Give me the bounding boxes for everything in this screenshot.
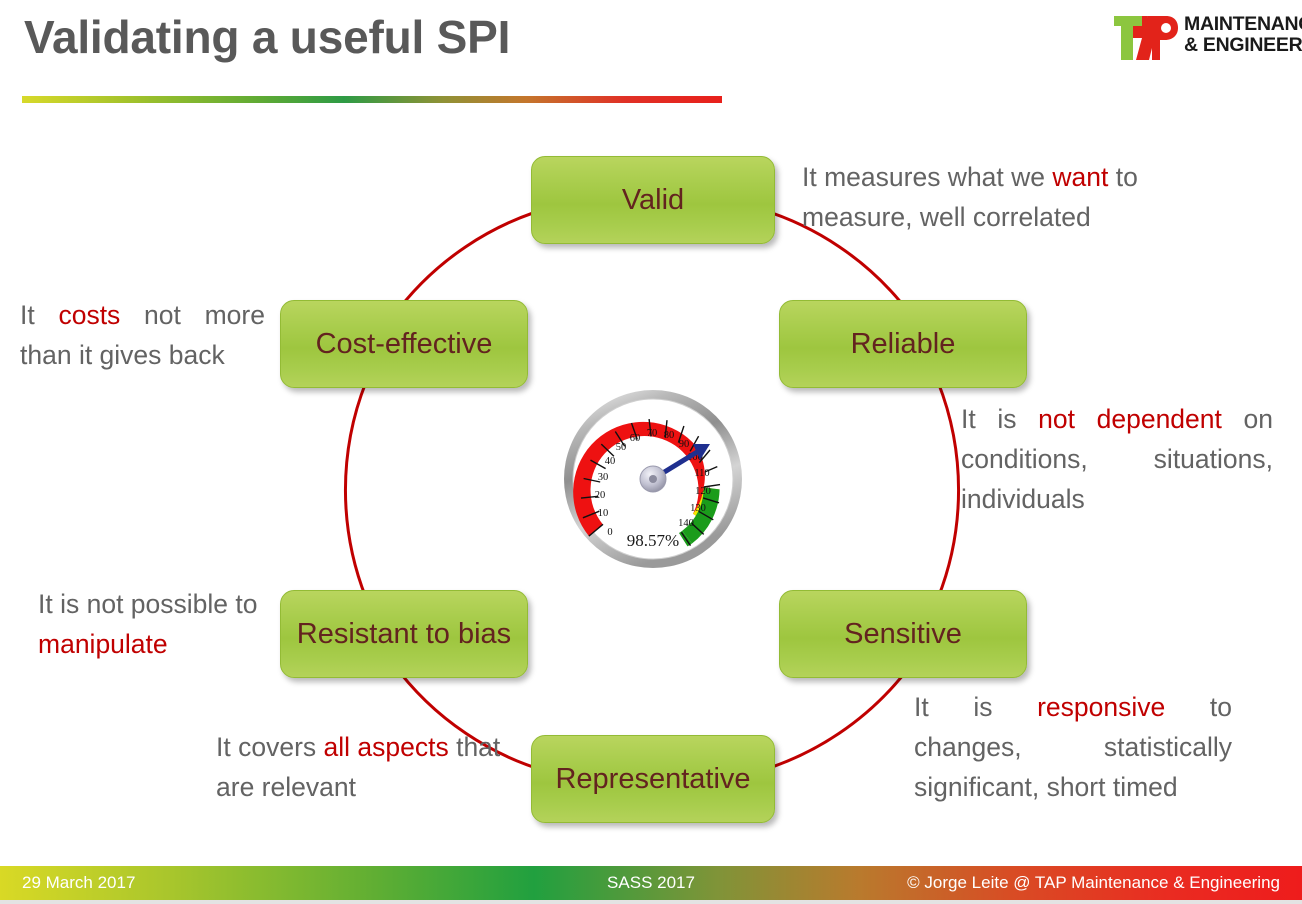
svg-text:40: 40 (605, 456, 616, 467)
spi-gauge: 0 10 20 30 40 50 60 70 80 90 100 110 120… (562, 388, 744, 570)
svg-text:80: 80 (664, 430, 675, 441)
svg-text:70: 70 (647, 428, 658, 439)
note-representative: It covers all aspects that are relevant (216, 728, 506, 808)
note-resistant-to-bias: It is not possible to manipulate (38, 585, 272, 665)
note-valid-highlight: want (1052, 162, 1108, 192)
tap-logo-text: MAINTENANCE & ENGINEERING (1184, 14, 1302, 56)
note-cost-effective: It costs not more than it gives back (20, 296, 265, 376)
note-sensitive: It is responsive to changes, statistical… (914, 688, 1232, 807)
node-resistant-to-bias-label: Resistant to bias (297, 618, 511, 650)
title-underline-gradient (22, 96, 722, 103)
note-reliable: It is not dependent on conditions, situa… (961, 400, 1273, 519)
note-sensitive-pre: It is (914, 692, 1037, 722)
note-reliable-pre: It is (961, 404, 1038, 434)
note-cost-highlight: costs (58, 300, 120, 330)
slide: Validating a useful SPI MAINTENANCE & EN… (0, 0, 1302, 904)
tap-logo: MAINTENANCE & ENGINEERING (1112, 10, 1290, 68)
node-resistant-to-bias[interactable]: Resistant to bias (280, 590, 528, 678)
footer-shadow (0, 900, 1302, 904)
svg-text:20: 20 (595, 490, 606, 501)
note-representative-pre: It covers (216, 732, 324, 762)
node-sensitive-label: Sensitive (844, 618, 962, 650)
logo-line-2: & ENGINEERING (1184, 35, 1302, 56)
node-valid[interactable]: Valid (531, 156, 775, 244)
note-cost-pre: It (20, 300, 58, 330)
note-resistant-pre: It is not possible to (38, 589, 257, 619)
svg-text:90: 90 (679, 439, 690, 450)
node-representative-label: Representative (555, 763, 750, 795)
node-reliable-label: Reliable (851, 328, 956, 360)
svg-text:120: 120 (695, 486, 711, 497)
note-valid-pre: It measures what we (802, 162, 1052, 192)
note-representative-highlight: all aspects (324, 732, 449, 762)
note-reliable-highlight: not dependent (1038, 404, 1222, 434)
tap-logo-mark-icon (1112, 12, 1178, 64)
svg-text:60: 60 (630, 433, 641, 444)
footer-copyright: © Jorge Leite @ TAP Maintenance & Engine… (907, 873, 1280, 893)
svg-text:10: 10 (598, 508, 609, 519)
node-cost-effective[interactable]: Cost-effective (280, 300, 528, 388)
logo-line-1: MAINTENANCE (1184, 14, 1302, 35)
svg-text:50: 50 (616, 442, 627, 453)
page-title: Validating a useful SPI (24, 10, 510, 64)
svg-text:110: 110 (694, 468, 709, 479)
node-valid-label: Valid (622, 184, 684, 216)
svg-text:30: 30 (598, 472, 609, 483)
svg-text:0: 0 (607, 527, 612, 538)
note-sensitive-highlight: responsive (1037, 692, 1165, 722)
gauge-value-label: 98.57% (627, 531, 679, 550)
gauge-hub-center (649, 475, 657, 483)
node-cost-effective-label: Cost-effective (316, 328, 493, 360)
node-sensitive[interactable]: Sensitive (779, 590, 1027, 678)
note-resistant-highlight: manipulate (38, 629, 168, 659)
node-reliable[interactable]: Reliable (779, 300, 1027, 388)
node-representative[interactable]: Representative (531, 735, 775, 823)
footer: 29 March 2017 SASS 2017 © Jorge Leite @ … (0, 866, 1302, 900)
note-valid: It measures what we want to measure, wel… (802, 158, 1202, 238)
svg-text:130: 130 (690, 503, 706, 514)
svg-text:140: 140 (678, 518, 694, 529)
